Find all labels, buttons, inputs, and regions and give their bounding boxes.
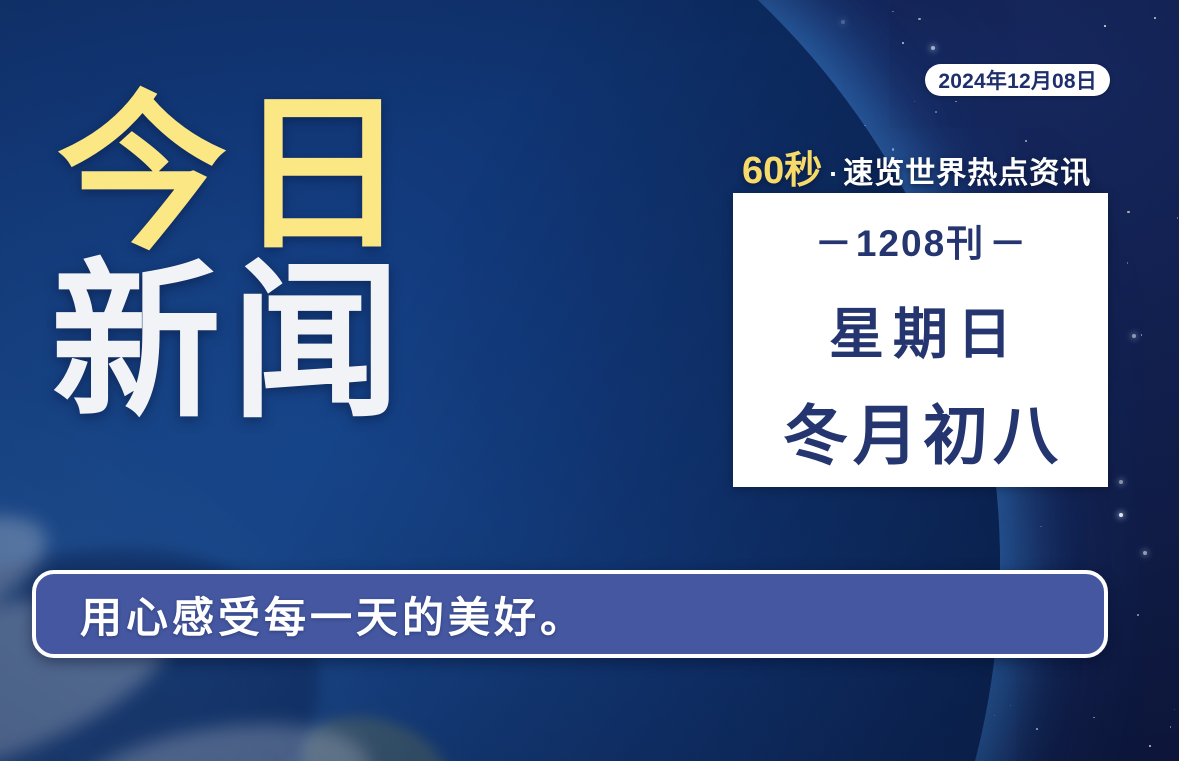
- issue-dash-right: －: [985, 223, 1030, 264]
- weekday-label: 星期日: [820, 289, 1021, 369]
- page-title-line-2: 新闻: [51, 264, 477, 424]
- issue-card: －1208刊－ 星期日 冬月初八: [733, 193, 1108, 487]
- headline-seconds: 60秒: [742, 139, 822, 194]
- page-title-line-1: 今日: [57, 96, 477, 256]
- news-poster-canvas: 2024年12月08日 今日 新闻 60秒 · 速览世界热点资讯 －1208刊－…: [0, 0, 1179, 761]
- issue-number-row: －1208刊－: [811, 213, 1030, 267]
- headline-tagline: 60秒 · 速览世界热点资讯: [742, 139, 1091, 194]
- headline-separator: ·: [829, 159, 838, 190]
- issue-number: 1208刊: [856, 223, 985, 264]
- slogan-banner: 用心感受每一天的美好。: [32, 570, 1108, 658]
- lunar-date-label: 冬月初八: [778, 383, 1063, 477]
- page-title: 今日 新闻: [57, 96, 477, 424]
- date-badge: 2024年12月08日: [925, 64, 1110, 96]
- headline-subtitle: 速览世界热点资讯: [843, 148, 1091, 192]
- issue-dash-left: －: [811, 223, 856, 264]
- slogan-text: 用心感受每一天的美好。: [80, 584, 586, 645]
